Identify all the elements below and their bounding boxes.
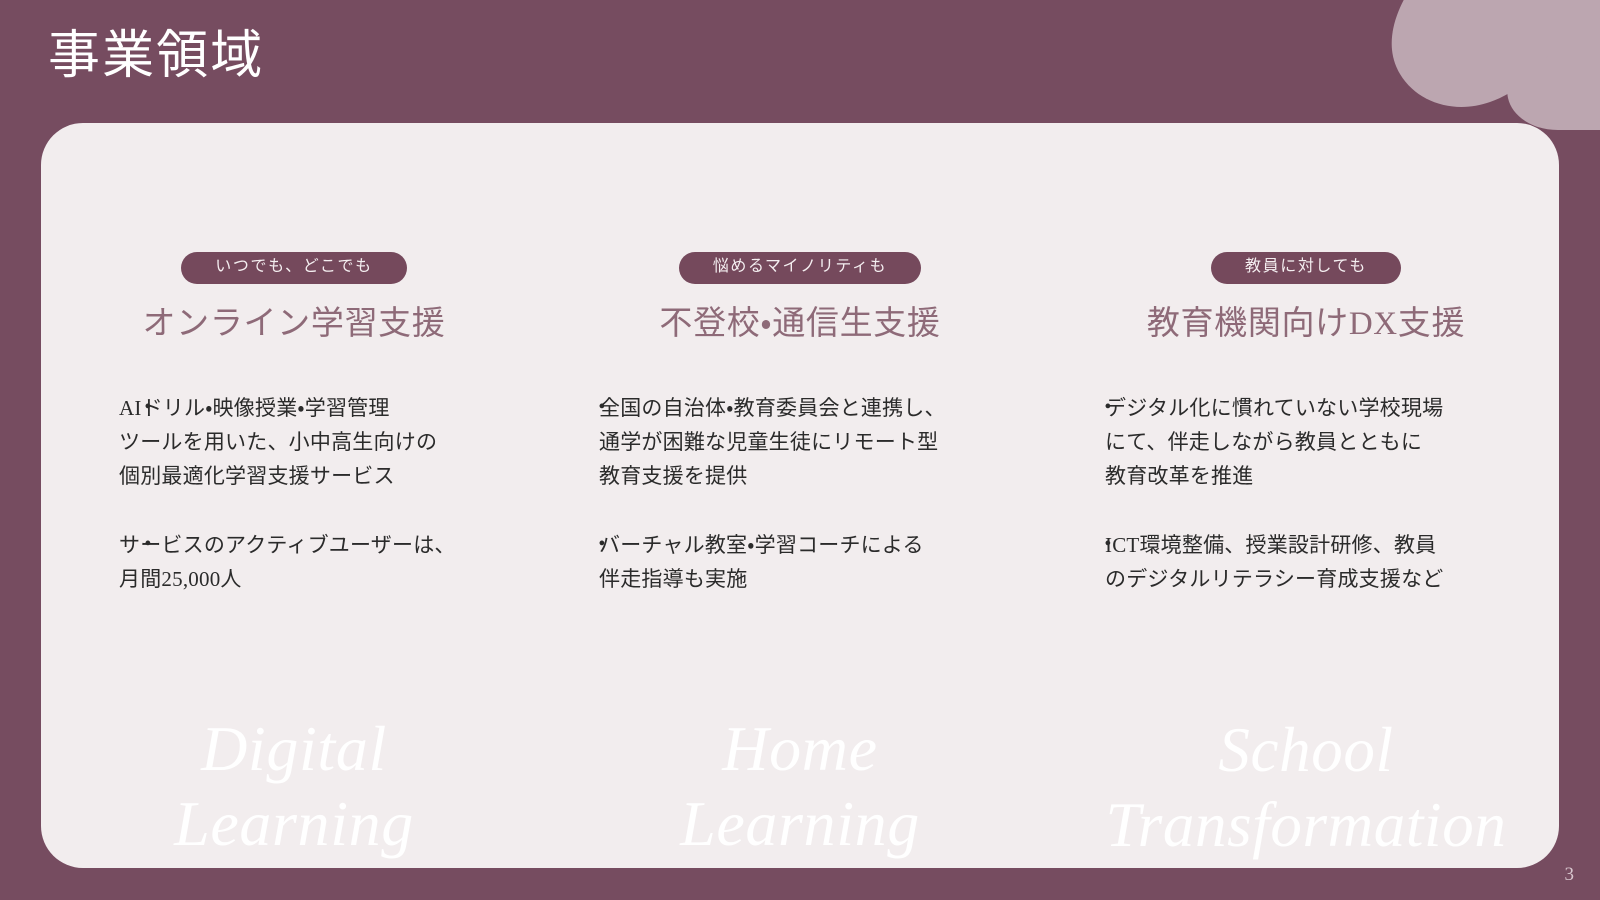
service-column-home-learning: 悩めるマイノリティも 不登校・通信生支援 • 全国の自治体・教育委員会と連携し、… — [547, 123, 1053, 868]
bullet-list: • 全国の自治体・教育委員会と連携し、 通学が困難な児童生徒にリモート型 教育支… — [547, 391, 1125, 596]
service-column-digital-learning: いつでも、どこでも オンライン学習支援 • AIドリル・映像授業・学習管理 ツー… — [41, 123, 547, 868]
watermark-text: School Transformation — [1053, 713, 1559, 862]
service-column-school-transformation: 教員に対しても 教育機関向けDX支援 • デジタル化に慣れていない学校現場 にて… — [1053, 123, 1559, 868]
decorative-blob — [1300, 0, 1600, 130]
bullet-marker-icon: • — [591, 391, 613, 424]
badge-row: 教員に対しても — [1053, 252, 1559, 284]
bullet-item: • バーチャル教室・学習コーチによる 伴走指導も実施 — [599, 528, 1105, 596]
service-badge: いつでも、どこでも — [181, 252, 406, 284]
bullet-marker-icon: • — [1097, 391, 1119, 424]
service-badge: 悩めるマイノリティも — [679, 252, 921, 284]
columns-container: いつでも、どこでも オンライン学習支援 • AIドリル・映像授業・学習管理 ツー… — [41, 123, 1559, 868]
page-title: 事業領域 — [48, 26, 264, 88]
service-heading: 不登校・通信生支援 — [547, 303, 1053, 346]
badge-row: いつでも、どこでも — [41, 252, 547, 284]
bullet-marker-icon: • — [137, 528, 159, 561]
service-badge: 教員に対しても — [1211, 252, 1401, 284]
bullet-marker-icon: • — [137, 391, 159, 424]
watermark-text: Home Learning — [547, 711, 1053, 862]
bullet-item: • ICT環境整備、授業設計研修、教員 のデジタルリテラシー育成支援など — [1105, 528, 1559, 596]
watermark-text: Digital Learning — [41, 711, 547, 862]
page-number: 3 — [1565, 864, 1575, 886]
bullet-text: バーチャル教室・学習コーチによる 伴走指導も実施 — [599, 528, 1105, 596]
slide-root: 事業領域 いつでも、どこでも オンライン学習支援 • AIドリル・映像授業・学習… — [0, 0, 1600, 900]
bullet-text: 全国の自治体・教育委員会と連携し、 通学が困難な児童生徒にリモート型 教育支援を… — [599, 391, 1105, 494]
badge-row: 悩めるマイノリティも — [547, 252, 1053, 284]
bullet-marker-icon: • — [591, 528, 613, 561]
bullet-marker-icon: • — [1097, 528, 1119, 561]
service-heading: オンライン学習支援 — [41, 303, 547, 346]
service-heading: 教育機関向けDX支援 — [1053, 303, 1559, 346]
bullet-list: • デジタル化に慣れていない学校現場 にて、伴走しながら教員とともに 教育改革を… — [1053, 391, 1559, 596]
bullet-item: • 全国の自治体・教育委員会と連携し、 通学が困難な児童生徒にリモート型 教育支… — [599, 391, 1105, 494]
content-card: いつでも、どこでも オンライン学習支援 • AIドリル・映像授業・学習管理 ツー… — [41, 123, 1559, 868]
bullet-text: ICT環境整備、授業設計研修、教員 のデジタルリテラシー育成支援など — [1105, 528, 1559, 596]
bullet-item: • デジタル化に慣れていない学校現場 にて、伴走しながら教員とともに 教育改革を… — [1105, 391, 1559, 494]
bullet-text: デジタル化に慣れていない学校現場 にて、伴走しながら教員とともに 教育改革を推進 — [1105, 391, 1559, 494]
